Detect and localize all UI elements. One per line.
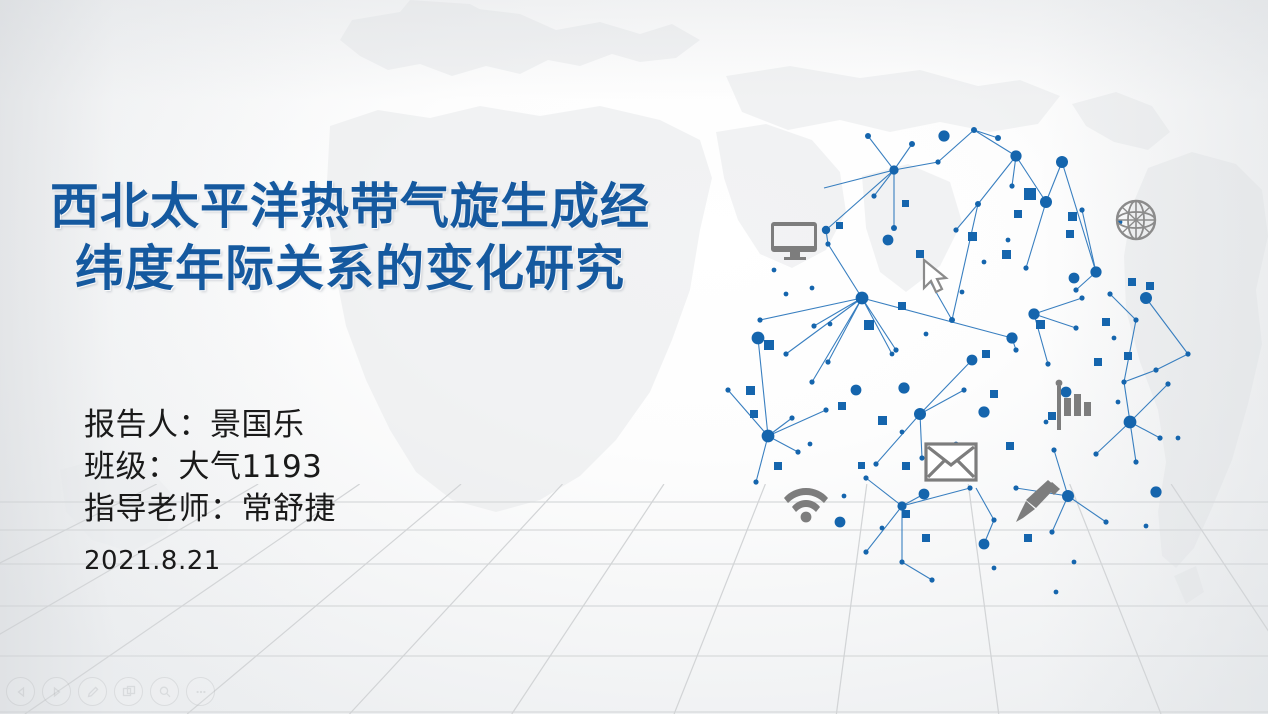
more-options-button[interactable] xyxy=(186,677,215,706)
wifi-icon xyxy=(784,488,828,522)
pen-nib-icon xyxy=(1016,480,1060,522)
magnifier-icon xyxy=(157,684,173,700)
slide-overview-button[interactable] xyxy=(114,677,143,706)
network-nodes xyxy=(725,127,1190,594)
bar-chart-icon xyxy=(1056,380,1091,430)
zoom-button[interactable] xyxy=(150,677,179,706)
slides-icon xyxy=(121,684,137,700)
presentation-slide: 西北太平洋热带气旋生成经 纬度年际关系的变化研究 报告人：景国乐 班级：大气11… xyxy=(0,0,1268,714)
reporter-line: 报告人：景国乐 xyxy=(84,404,336,446)
pen-tool-button[interactable] xyxy=(78,677,107,706)
presentation-date: 2021.8.21 xyxy=(84,544,336,578)
ellipsis-icon xyxy=(193,684,209,700)
triangle-right-icon xyxy=(50,685,64,699)
monitor-icon xyxy=(771,222,817,260)
envelope-icon xyxy=(926,444,976,480)
triangle-left-icon xyxy=(14,685,28,699)
globe-icon xyxy=(1117,201,1155,239)
advisor-line: 指导老师：常舒捷 xyxy=(84,488,336,530)
cursor-icon xyxy=(924,260,946,292)
previous-slide-button[interactable] xyxy=(6,677,35,706)
network-edges xyxy=(728,130,1188,580)
class-line: 班级：大气1193 xyxy=(84,446,336,488)
network-sphere-graphic xyxy=(716,92,1228,592)
slideshow-toolbar xyxy=(6,677,215,706)
pen-icon xyxy=(85,684,101,700)
presenter-info: 报告人：景国乐 班级：大气1193 指导老师：常舒捷 2021.8.21 xyxy=(84,404,336,578)
next-slide-button[interactable] xyxy=(42,677,71,706)
slide-title: 西北太平洋热带气旋生成经 纬度年际关系的变化研究 xyxy=(0,176,700,300)
